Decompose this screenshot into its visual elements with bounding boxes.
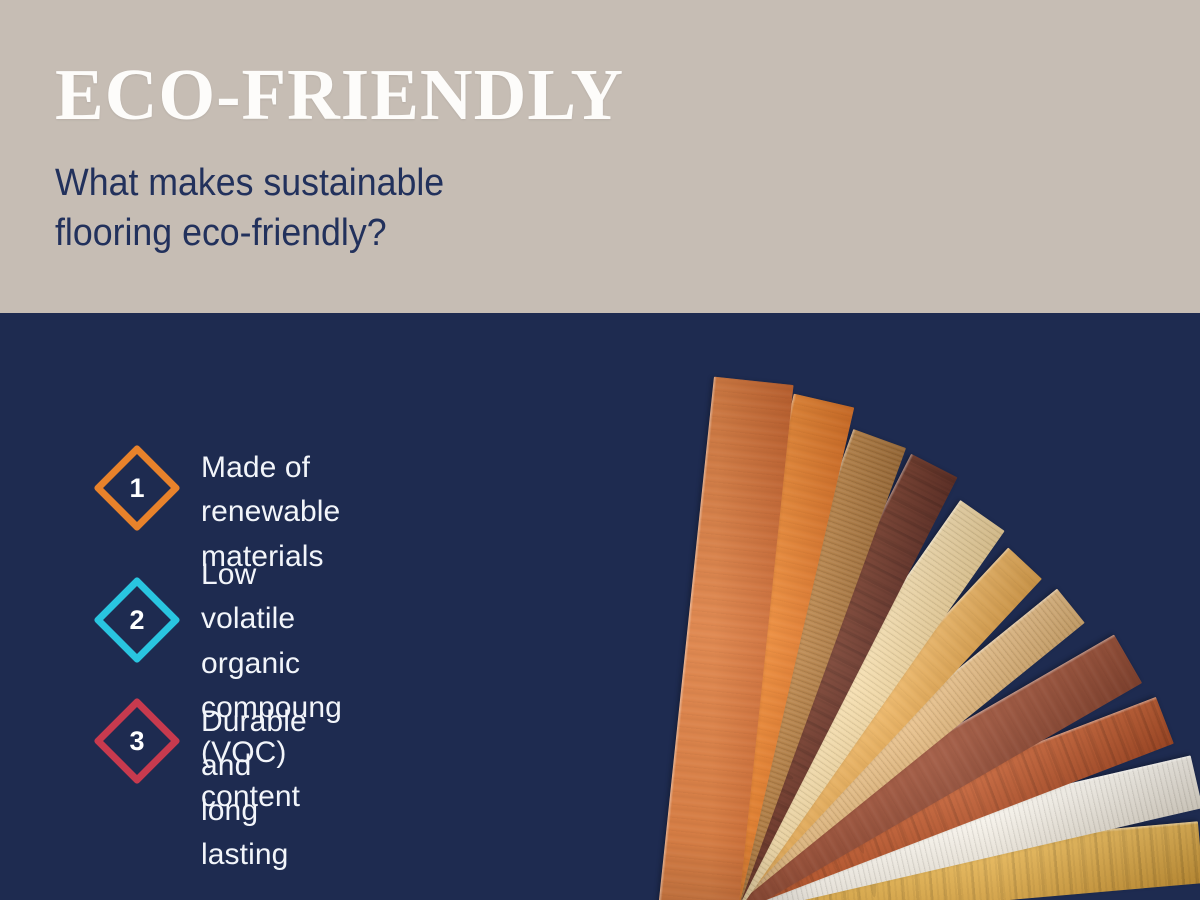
badge-number: 1 bbox=[113, 464, 161, 512]
page-subtitle: What makes sustainable flooring eco-frie… bbox=[55, 158, 444, 258]
page-title: ECO-FRIENDLY bbox=[55, 58, 624, 131]
header-band bbox=[0, 0, 1200, 313]
body-band bbox=[0, 313, 1200, 900]
infographic-canvas: ECO-FRIENDLY What makes sustainable floo… bbox=[0, 0, 1200, 900]
list-item-text: Durable and long lasting bbox=[201, 700, 307, 878]
badge-number: 2 bbox=[113, 596, 161, 644]
subtitle-line-1: What makes sustainable bbox=[55, 158, 444, 208]
subtitle-line-2: flooring eco-friendly? bbox=[55, 208, 444, 258]
badge-number: 3 bbox=[113, 717, 161, 765]
